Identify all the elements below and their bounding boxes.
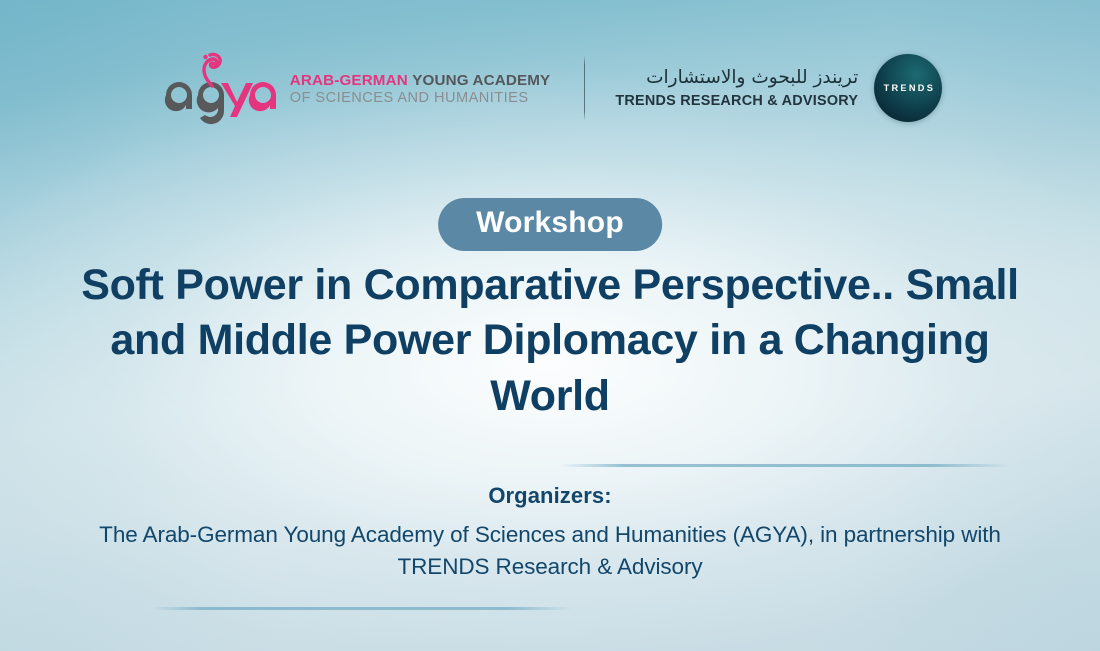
trends-name-english: TRENDS RESEARCH & ADVISORY <box>615 92 858 110</box>
organizers-body: The Arab-German Young Academy of Science… <box>60 519 1040 583</box>
organizers-label: Organizers: <box>60 483 1040 509</box>
logo-bar: ARAB-GERMAN YOUNG ACADEMY OF SCIENCES AN… <box>0 42 1100 134</box>
agya-logo: ARAB-GERMAN YOUNG ACADEMY OF SCIENCES AN… <box>158 51 551 125</box>
divider-rule-top <box>560 464 1012 467</box>
workshop-badge: Workshop <box>438 198 662 251</box>
agya-name-rest: YOUNG ACADEMY <box>412 72 550 89</box>
organizers-section: Organizers: The Arab-German Young Academ… <box>0 483 1100 583</box>
agya-name-line-2: OF SCIENCES AND HUMANITIES <box>290 90 551 107</box>
trends-badge-text: TRENDS <box>881 83 935 93</box>
divider-rule-bottom <box>152 607 572 610</box>
agya-name-highlight: ARAB-GERMAN <box>290 72 408 89</box>
trends-circle-logo-icon: TRENDS <box>874 54 942 122</box>
agya-name-line-1: ARAB-GERMAN YOUNG ACADEMY <box>290 72 551 90</box>
vertical-divider-icon <box>584 56 585 120</box>
workshop-announcement-poster: ARAB-GERMAN YOUNG ACADEMY OF SCIENCES AN… <box>0 0 1100 651</box>
trends-logo: تريندز للبحوث والاستشارات TRENDS RESEARC… <box>615 54 942 122</box>
trends-name-block: تريندز للبحوث والاستشارات TRENDS RESEARC… <box>615 66 858 110</box>
agya-wordmark-icon <box>158 51 276 125</box>
trends-name-arabic: تريندز للبحوث والاستشارات <box>646 66 858 90</box>
page-title: Soft Power in Comparative Perspective.. … <box>0 258 1100 424</box>
agya-name-block: ARAB-GERMAN YOUNG ACADEMY OF SCIENCES AN… <box>290 69 551 107</box>
